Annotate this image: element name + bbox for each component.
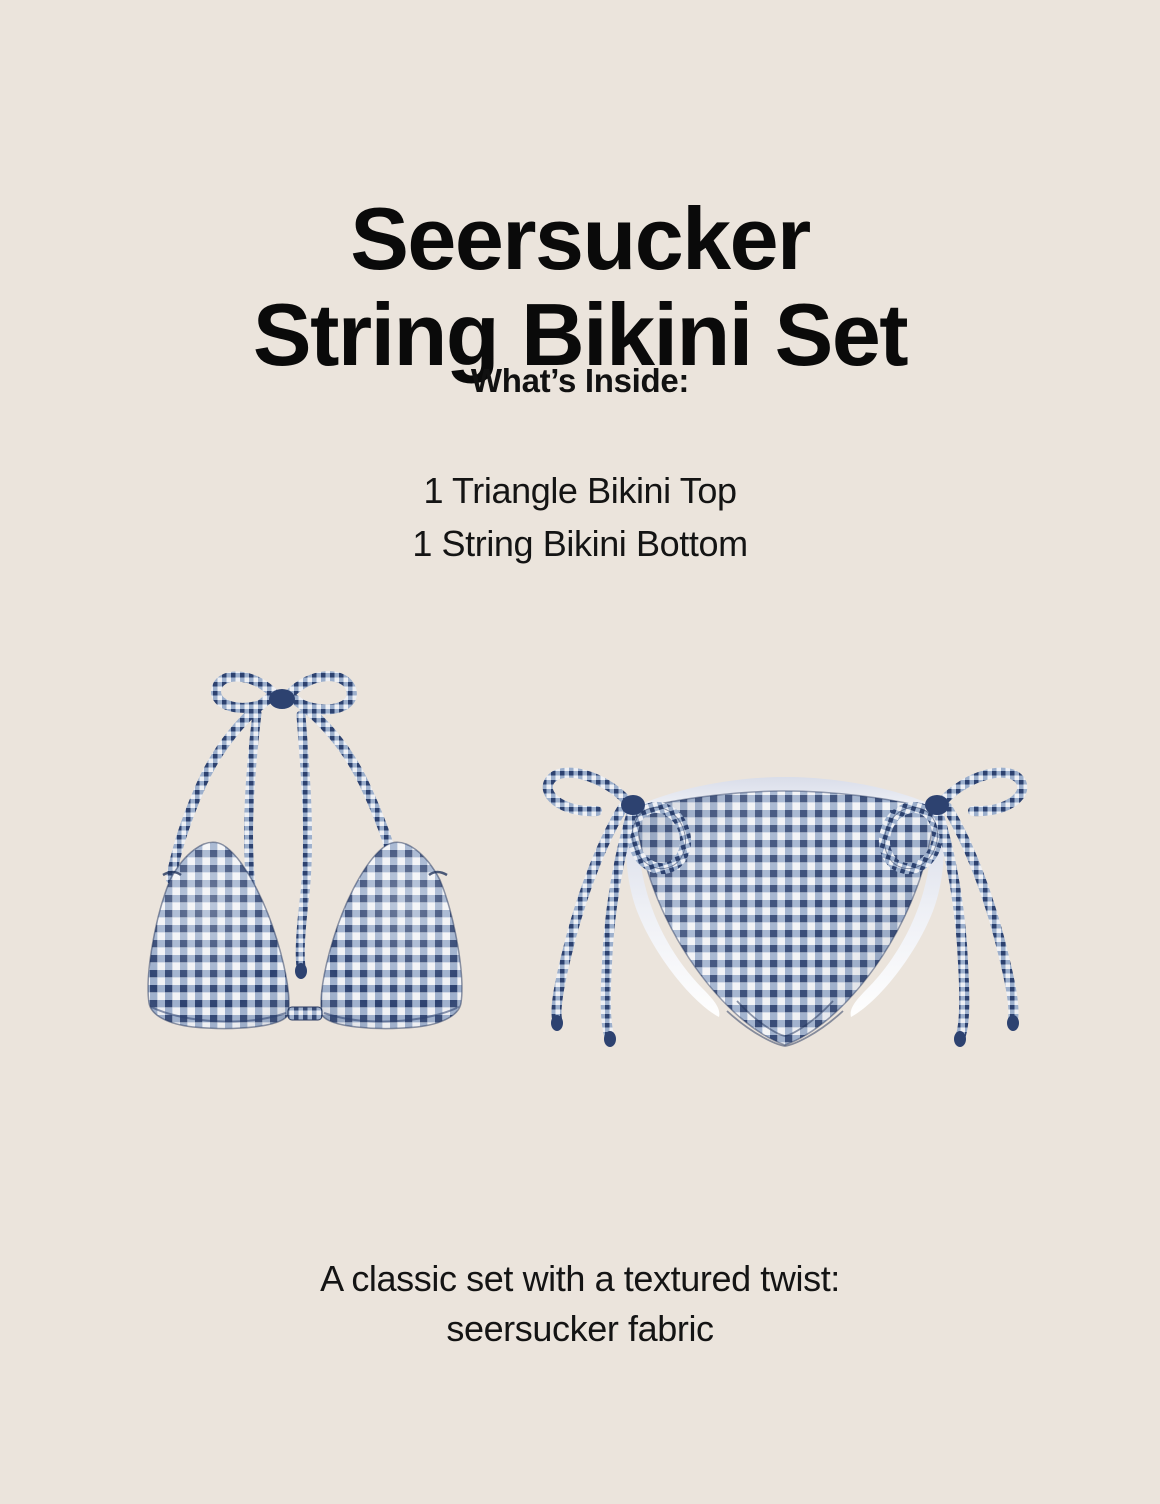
list-item: 1 Triangle Bikini Top [0, 464, 1160, 517]
list-item: 1 String Bikini Bottom [0, 517, 1160, 570]
string-bikini-bottom-image [515, 735, 1055, 1095]
triangle-bikini-top-image [105, 655, 505, 1135]
product-info-page: Seersucker String Bikini Set What’s Insi… [0, 0, 1160, 1504]
center-connector [288, 1007, 322, 1020]
front-panel [615, 775, 965, 1065]
right-side-tie-bow [937, 773, 1022, 1035]
contents-list: 1 Triangle Bikini Top 1 String Bikini Bo… [0, 464, 1160, 570]
page-title: Seersucker String Bikini Set [0, 195, 1160, 379]
whats-inside-heading: What’s Inside: [0, 362, 1160, 400]
tagline-line-2: seersucker fabric [0, 1304, 1160, 1354]
title-line-1: Seersucker [350, 189, 810, 288]
neck-bow-knot [269, 689, 295, 709]
left-side-tie-bow [548, 773, 633, 1035]
product-tagline: A classic set with a textured twist: see… [0, 1254, 1160, 1354]
product-image-group [0, 640, 1160, 1160]
tagline-line-1: A classic set with a textured twist: [0, 1254, 1160, 1304]
right-tie-knot [925, 795, 949, 815]
left-tie-knot [621, 795, 645, 815]
